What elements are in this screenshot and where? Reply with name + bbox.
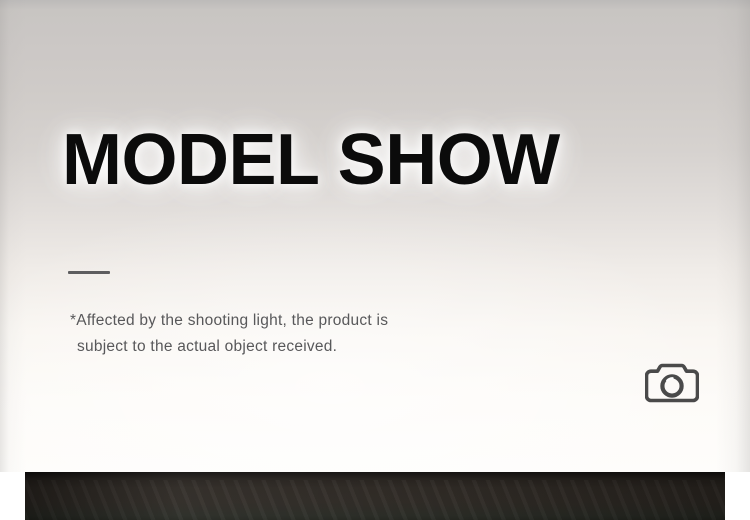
camera-lens-highlight bbox=[667, 378, 672, 380]
photo-band-topline bbox=[25, 472, 725, 479]
product-photo-band bbox=[25, 472, 725, 520]
title-divider bbox=[68, 271, 110, 274]
disclaimer-line-2: subject to the actual object received. bbox=[70, 334, 490, 360]
model-show-banner: MODEL SHOW *Affected by the shooting lig… bbox=[0, 0, 750, 520]
disclaimer-text: *Affected by the shooting light, the pro… bbox=[70, 308, 490, 360]
photo-band-texture bbox=[25, 480, 725, 520]
page-title: MODEL SHOW bbox=[62, 118, 560, 202]
camera-icon bbox=[645, 361, 699, 405]
backdrop-gradient bbox=[0, 0, 750, 472]
photo-band-sheen bbox=[25, 472, 725, 520]
disclaimer-line-1: *Affected by the shooting light, the pro… bbox=[70, 312, 388, 329]
